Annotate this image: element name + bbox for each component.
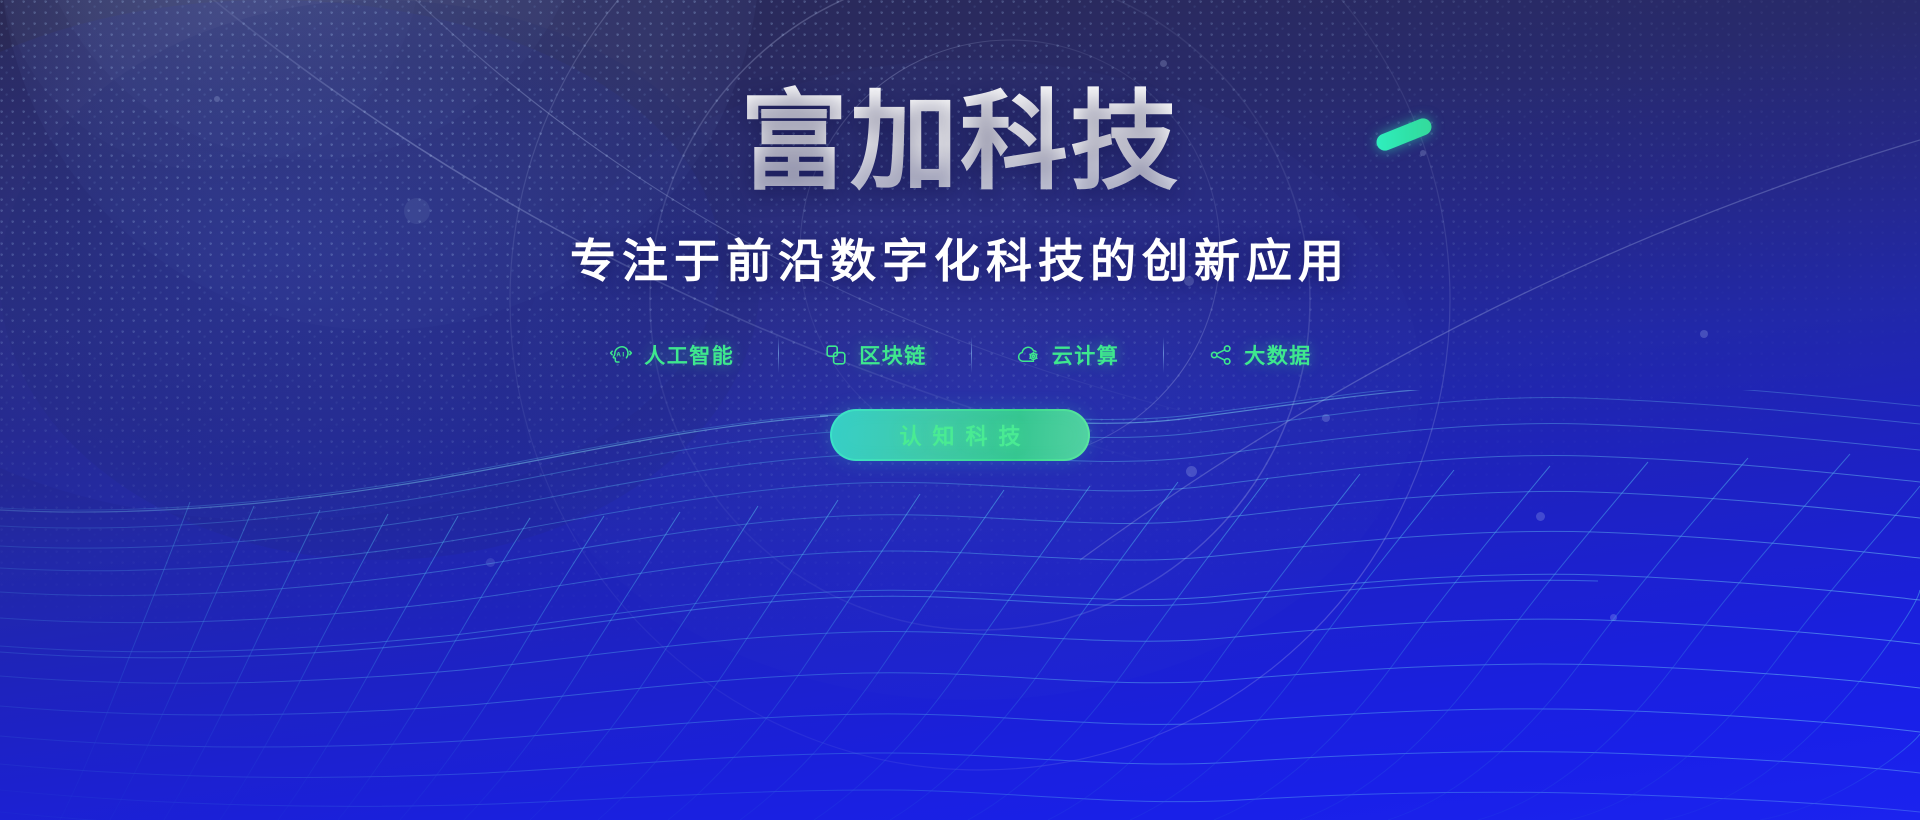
- feature-tag-bigdata[interactable]: 大数据: [1164, 340, 1356, 370]
- feature-tag-list: AI 人工智能 区块链: [564, 337, 1356, 373]
- ai-head-icon: AI: [608, 342, 634, 368]
- cognitive-tech-badge[interactable]: 认知科技: [830, 409, 1090, 461]
- blockchain-blocks-icon: [823, 342, 849, 368]
- brand-logo: 富加科技: [740, 82, 1180, 203]
- feature-tag-cloud[interactable]: 云计算: [972, 340, 1164, 370]
- feature-tag-label: 人工智能: [644, 340, 734, 370]
- logo-accent-stroke-icon: [1374, 116, 1434, 153]
- feature-tag-label: 云计算: [1052, 340, 1120, 370]
- cloud-gear-icon: [1016, 342, 1042, 368]
- feature-tag-label: 大数据: [1244, 340, 1312, 370]
- hero-content: 富加科技 专注于前沿数字化科技的创新应用 AI 人工智能: [0, 0, 1920, 820]
- brand-logo-text: 富加科技: [740, 81, 1180, 202]
- hero-subtitle: 专注于前沿数字化科技的创新应用: [570, 225, 1350, 291]
- share-nodes-icon: [1208, 342, 1234, 368]
- feature-tag-blockchain[interactable]: 区块链: [779, 340, 971, 370]
- hero-banner: 富加科技 专注于前沿数字化科技的创新应用 AI 人工智能: [0, 0, 1920, 820]
- feature-tag-ai[interactable]: AI 人工智能: [564, 340, 778, 370]
- svg-text:AI: AI: [617, 352, 626, 359]
- feature-tag-label: 区块链: [859, 340, 927, 370]
